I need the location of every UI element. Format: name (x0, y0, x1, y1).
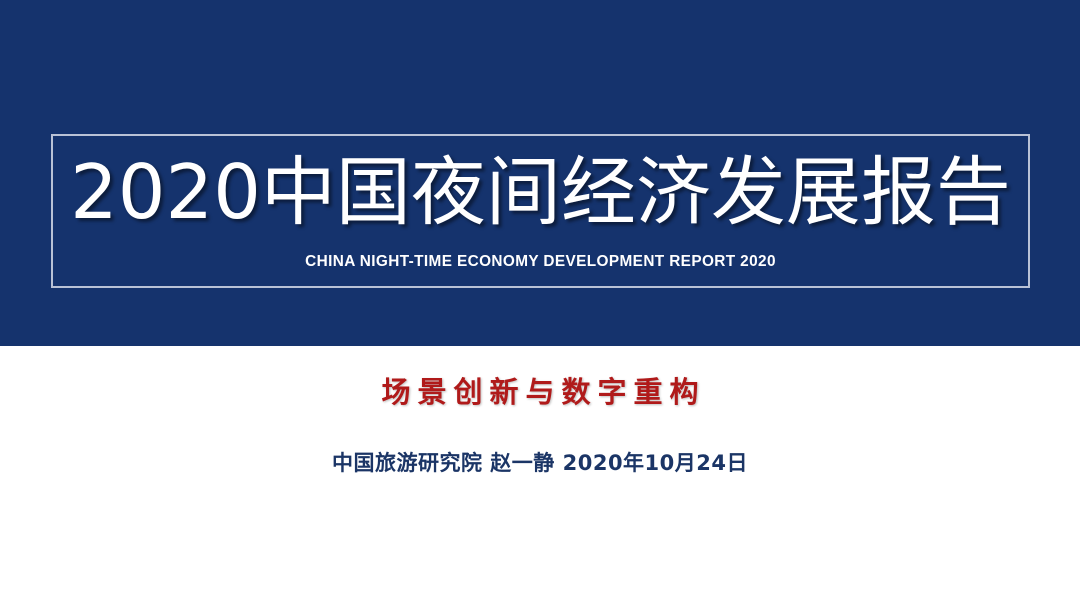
theme-subtitle: 场景创新与数字重构 (0, 372, 1080, 412)
english-subtitle: CHINA NIGHT-TIME ECONOMY DEVELOPMENT REP… (73, 252, 1009, 272)
page-title: 2020中国夜间经济发展报告 (53, 146, 1028, 238)
byline: 中国旅游研究院 赵一静 2020年10月24日 (0, 448, 1080, 478)
hero-band: 2020中国夜间经济发展报告 CHINA NIGHT-TIME ECONOMY … (0, 0, 1080, 346)
lower-content-area: 场景创新与数字重构 中国旅游研究院 赵一静 2020年10月24日 (0, 346, 1080, 608)
title-frame: 2020中国夜间经济发展报告 CHINA NIGHT-TIME ECONOMY … (51, 134, 1030, 288)
